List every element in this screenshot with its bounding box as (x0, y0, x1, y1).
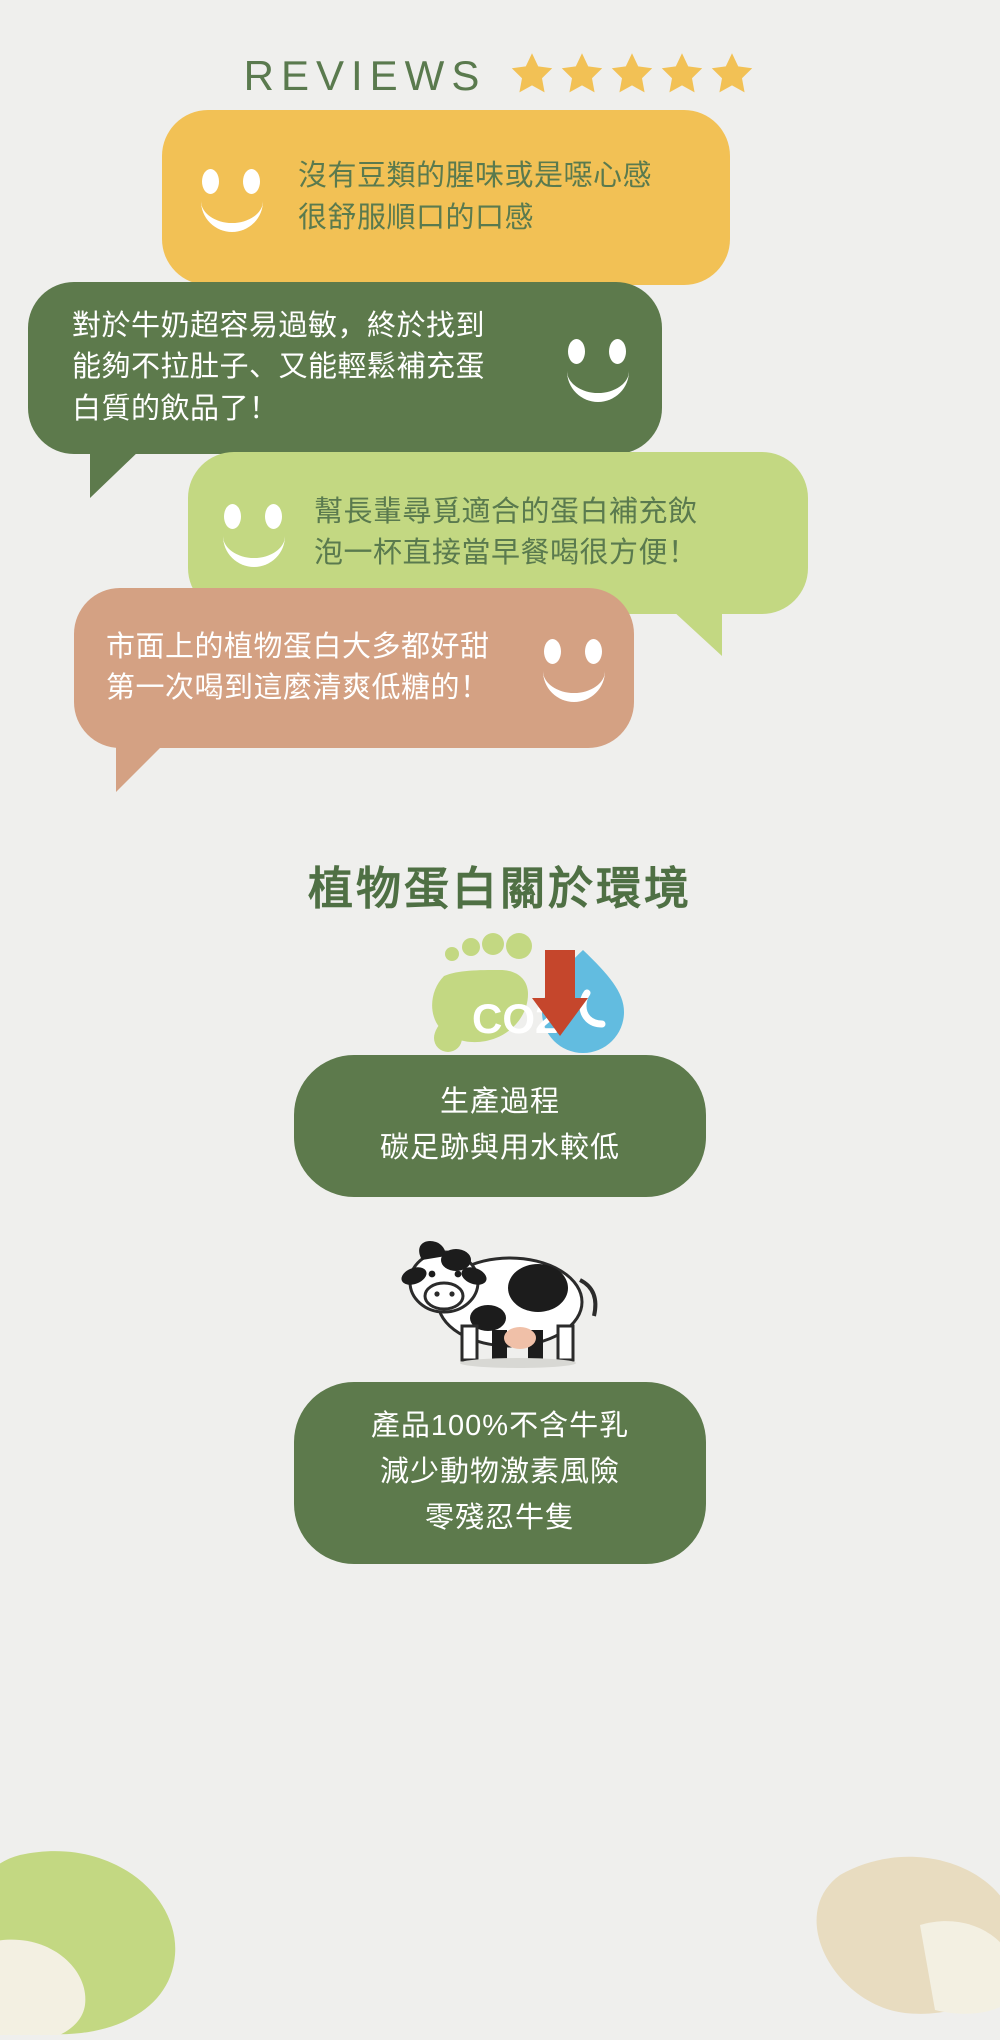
page-title: REVIEWS (244, 51, 487, 97)
review-bubble-4: 市面上的植物蛋白大多都好甜 第一次喝到這麼清爽低糖的！ (74, 588, 634, 748)
review-text: 市面上的植物蛋白大多都好甜 第一次喝到這麼清爽低糖的！ (106, 627, 530, 709)
review-text: 對於牛奶超容易過敏，終於找到 能夠不拉肚子、又能輕鬆補充蛋 白質的飲品了！ (72, 306, 554, 430)
bubble-tail (116, 744, 164, 792)
decorative-leaf-blob-right (800, 1815, 1000, 2020)
cow-icon (0, 1230, 1000, 1370)
bubble-tail (672, 610, 722, 656)
star-icon (558, 50, 606, 98)
star-icon (658, 50, 706, 98)
bubble-tail (90, 450, 140, 498)
smiley-face-icon (188, 163, 278, 233)
carbon-footprint-water-drop-icon: CO2 (0, 928, 1000, 1063)
review-text: 沒有豆類的腥味或是噁心感 很舒服順口的口感 (278, 156, 652, 238)
environment-section-title: 植物蛋白關於環境 (0, 852, 1000, 917)
star-rating (508, 50, 756, 98)
decorative-leaf-blob-left (0, 1815, 220, 2040)
review-bubble-1: 沒有豆類的腥味或是噁心感 很舒服順口的口感 (162, 110, 730, 285)
environment-pill-2: 產品100%不含牛乳 減少動物激素風險 零殘忍牛隻 (294, 1382, 706, 1564)
smiley-face-icon (530, 633, 620, 703)
reviews-header: REVIEWS (0, 50, 1000, 98)
smiley-face-icon (554, 333, 644, 403)
environment-pill-1: 生產過程 碳足跡與用水較低 (294, 1055, 706, 1197)
star-icon (508, 50, 556, 98)
smiley-face-icon (210, 498, 300, 568)
review-bubble-2: 對於牛奶超容易過敏，終於找到 能夠不拉肚子、又能輕鬆補充蛋 白質的飲品了！ (28, 282, 662, 454)
star-icon (608, 50, 656, 98)
star-icon (708, 50, 756, 98)
review-text: 幫長輩尋覓適合的蛋白補充飲 泡一杯直接當早餐喝很方便！ (300, 492, 698, 574)
